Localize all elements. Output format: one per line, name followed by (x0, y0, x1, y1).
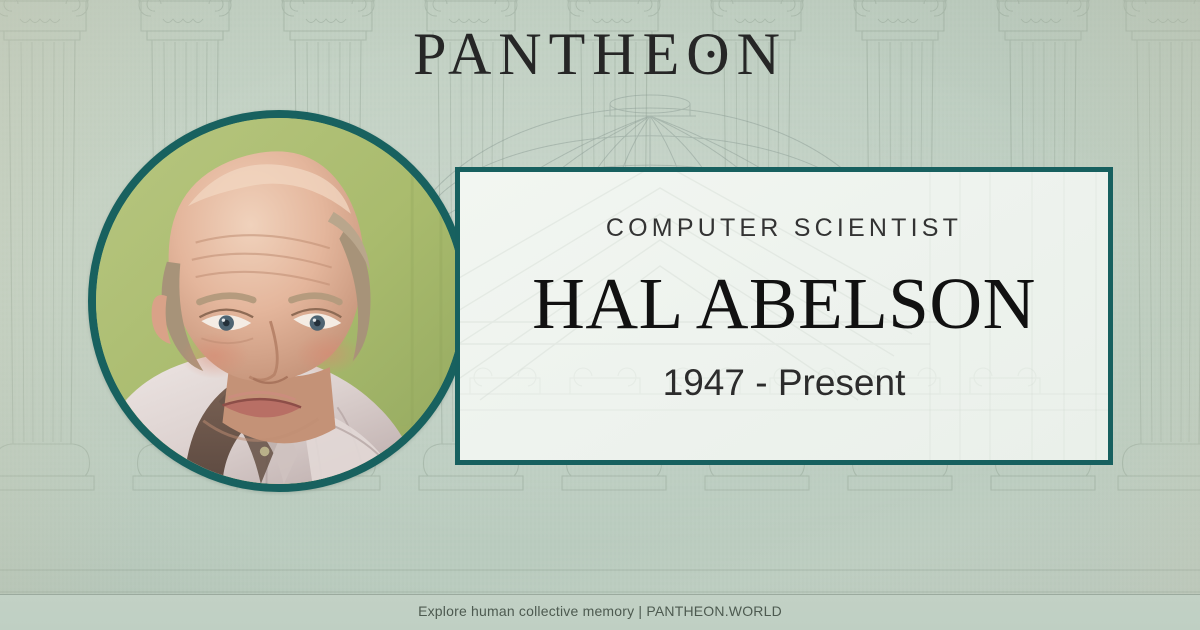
lifespan-label: 1947 - Present (663, 364, 906, 401)
logo-oculus-o: O (686, 24, 736, 84)
footer-tagline[interactable]: Explore human collective memory | PANTHE… (0, 603, 1200, 619)
dome-oculus-dot-icon (708, 51, 715, 58)
profile-info-card: COMPUTER SCIENTIST HAL ABELSON 1947 - Pr… (455, 167, 1113, 465)
portrait-photo (96, 118, 462, 484)
pantheon-logo[interactable]: PANTHEON (0, 24, 1200, 84)
logo-text-after: N (737, 21, 787, 87)
portrait-avatar[interactable] (88, 110, 470, 492)
person-name-title: HAL ABELSON (532, 267, 1036, 340)
pantheon-profile-card-image: PANTHEON (0, 0, 1200, 630)
occupation-label: COMPUTER SCIENTIST (606, 216, 962, 241)
logo-text-before: PANTHE (413, 21, 686, 87)
